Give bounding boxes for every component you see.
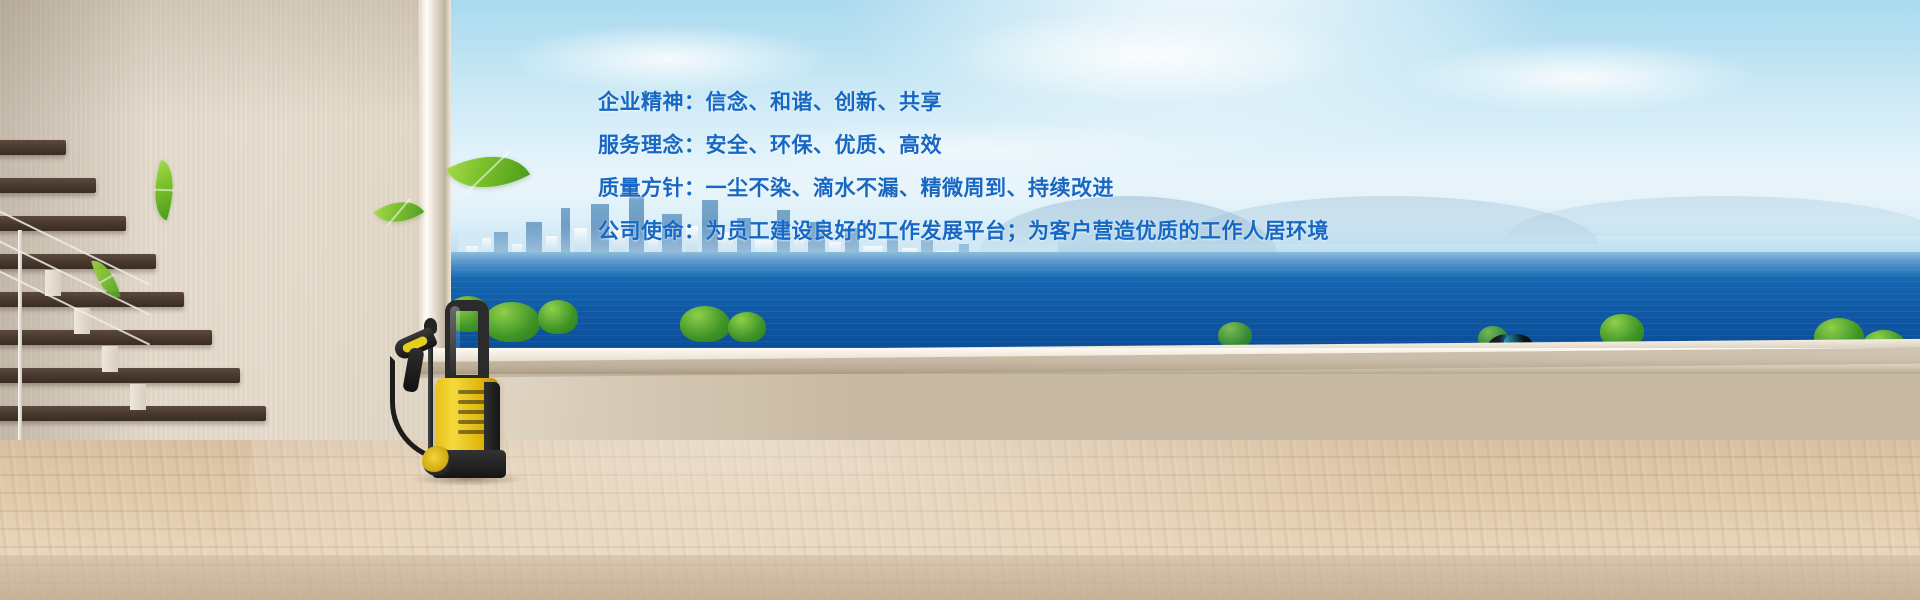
stair-riser (130, 384, 146, 410)
shore-tree (538, 300, 578, 334)
slogan-line-company-mission: 公司使命：为员工建设良好的工作发展平台；为客户营造优质的工作人居环境 (598, 221, 1698, 242)
pressure-washer (388, 300, 528, 480)
shore-tree (728, 312, 766, 342)
stair-riser (102, 346, 118, 372)
company-culture-banner: 企业精神：信念、和谐、创新、共享 服务理念：安全、环保、优质、高效 质量方针：一… (0, 0, 1920, 600)
pressure-washer-wheel (422, 446, 452, 476)
slogan-line-service-philosophy: 服务理念：安全、环保、优质、高效 (598, 135, 1698, 156)
slogan-line-corporate-spirit: 企业精神：信念、和谐、创新、共享 (598, 92, 1698, 113)
handrail-wire (0, 196, 150, 285)
cloud (938, 8, 1358, 104)
slogan-line-quality-policy: 质量方针：一尘不染、滴水不漏、精微周到、持续改进 (598, 178, 1698, 199)
handrail-post (18, 230, 22, 475)
pressure-washer-side-panel (484, 382, 500, 456)
shore-tree (680, 306, 730, 342)
cloud (508, 24, 828, 94)
stair-riser (45, 270, 61, 296)
floor-foreground-band (0, 555, 1920, 600)
staircase (0, 140, 220, 470)
company-culture-slogans: 企业精神：信念、和谐、创新、共享 服务理念：安全、环保、优质、高效 质量方针：一… (598, 92, 1698, 242)
